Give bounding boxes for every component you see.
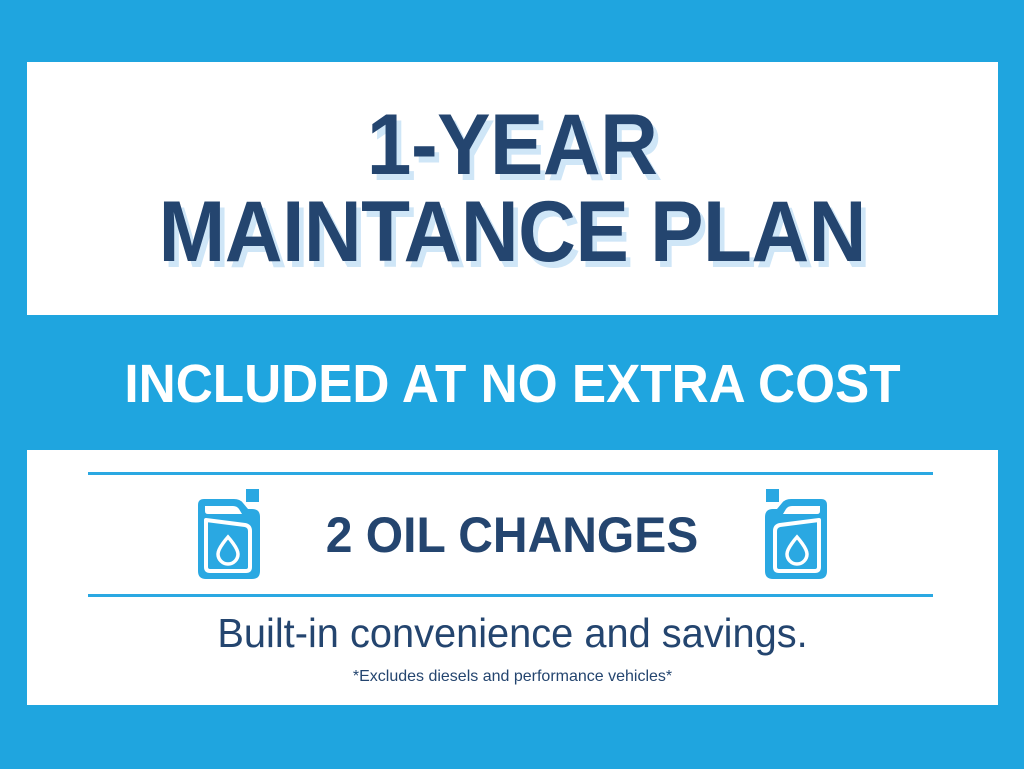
fineprint-text: *Excludes diesels and performance vehicl… bbox=[27, 668, 998, 686]
maintenance-plan-poster: 1-YEAR MAINTANCE PLAN INCLUDED AT NO EXT… bbox=[0, 0, 1024, 769]
tagline-text: Built-in convenience and savings. bbox=[42, 610, 984, 657]
benefits-panel: 2 OIL CHANGES Built-in convenience and s… bbox=[27, 450, 998, 705]
oil-jug-icon bbox=[190, 487, 266, 583]
subheadline-band: INCLUDED AT NO EXTRA COST bbox=[0, 340, 1024, 428]
benefit-row: 2 OIL CHANGES bbox=[27, 482, 998, 587]
benefit-label: 2 OIL CHANGES bbox=[326, 506, 699, 564]
headline-line-1: 1-YEAR bbox=[367, 105, 658, 186]
oil-jug-icon bbox=[759, 487, 835, 583]
divider-bottom bbox=[88, 594, 933, 597]
headline-panel: 1-YEAR MAINTANCE PLAN bbox=[27, 62, 998, 315]
headline-line-2: MAINTANCE PLAN bbox=[159, 192, 866, 273]
subheadline-text: INCLUDED AT NO EXTRA COST bbox=[124, 353, 900, 415]
divider-top bbox=[88, 472, 933, 475]
